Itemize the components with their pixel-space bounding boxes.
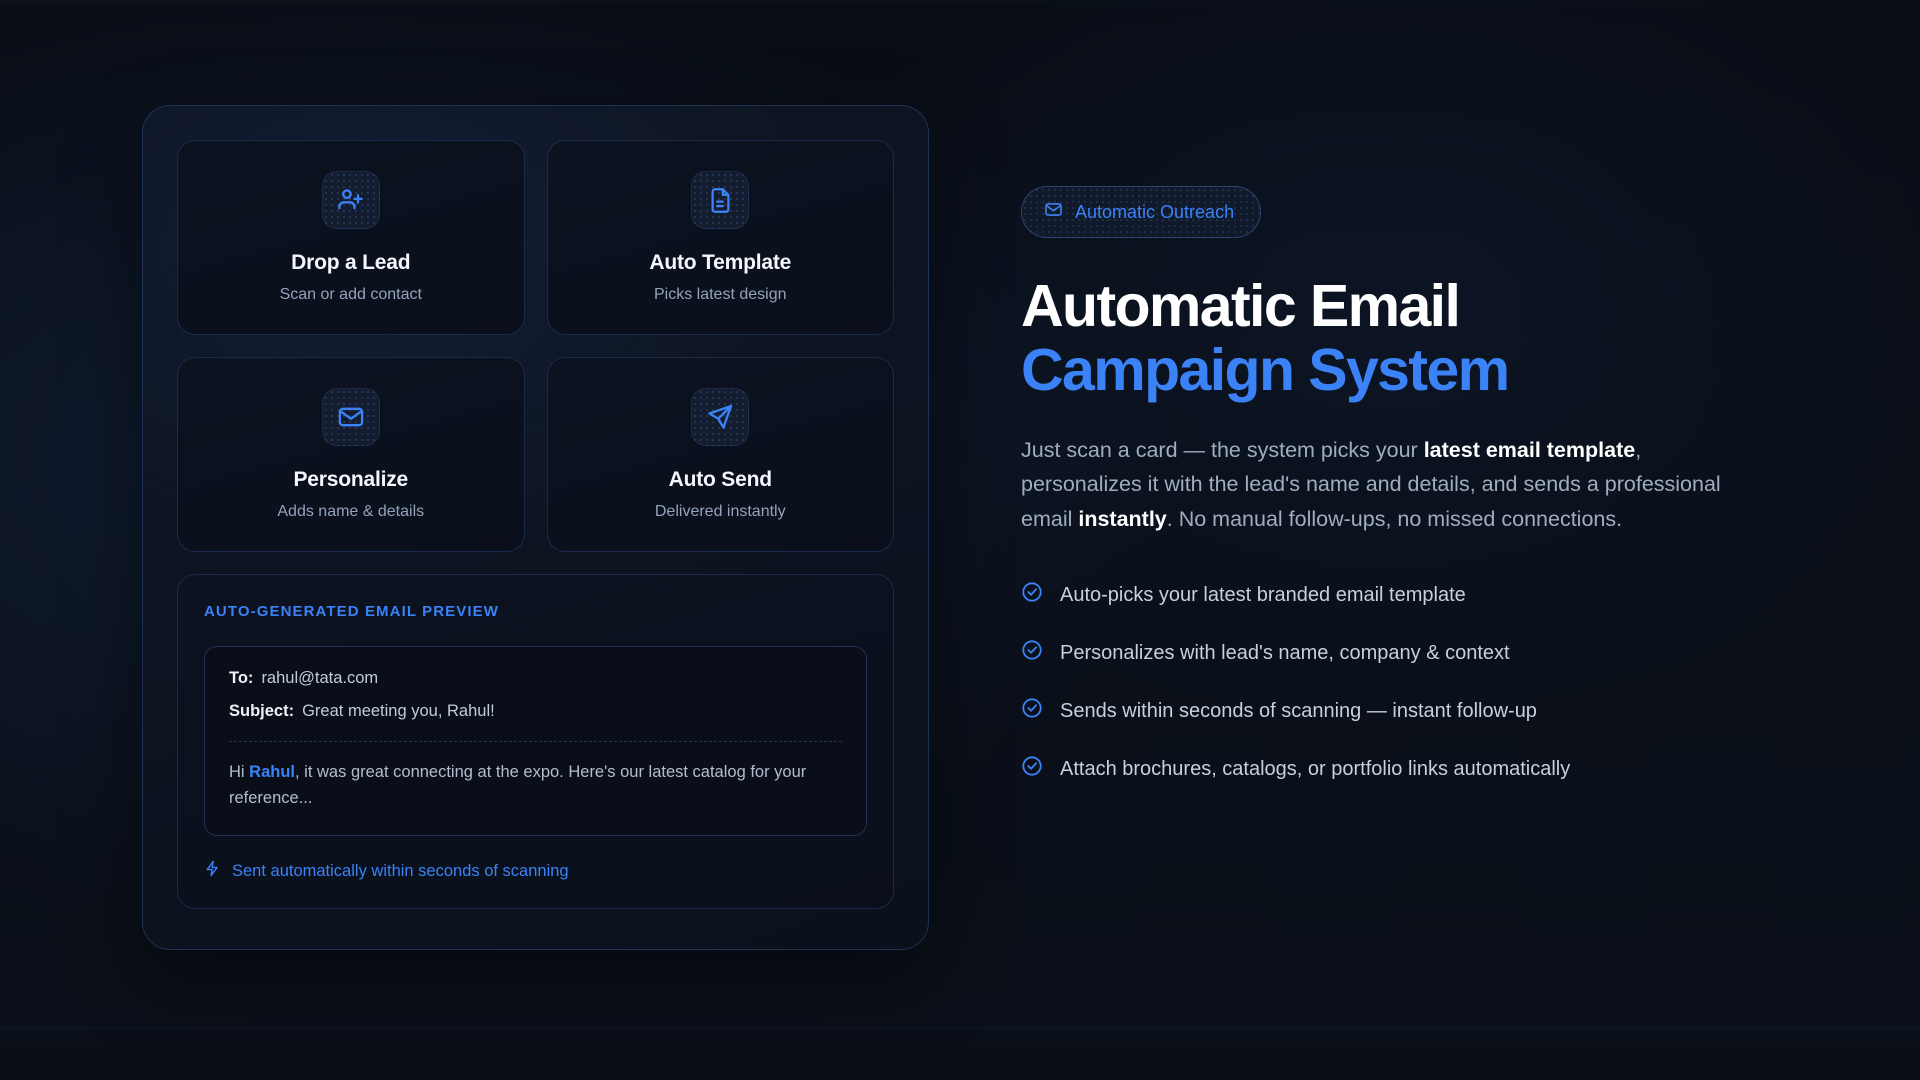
bullet-label: Sends within seconds of scanning — insta… — [1060, 700, 1537, 723]
mail-icon — [1044, 200, 1063, 224]
lede-strong-1: latest email template — [1424, 438, 1636, 462]
feature-subtitle: Scan or add contact — [280, 286, 422, 304]
bullet-label: Auto-picks your latest branded email tem… — [1060, 584, 1466, 607]
email-to-value: rahul@tata.com — [261, 669, 378, 688]
user-plus-icon — [322, 171, 380, 229]
bottom-section-divider — [0, 1028, 1920, 1080]
badge-label: Automatic Outreach — [1075, 202, 1234, 223]
check-circle-icon — [1021, 639, 1043, 667]
email-subject-value: Great meeting you, Rahul! — [302, 702, 495, 721]
feature-subtitle: Picks latest design — [654, 286, 787, 304]
headline-line-2: Campaign System — [1021, 338, 1781, 402]
lede-part-3: . No manual follow-ups, no missed connec… — [1167, 507, 1622, 531]
email-message-card: To: rahul@tata.com Subject: Great meetin… — [204, 646, 867, 836]
bullet-label: Personalizes with lead's name, company &… — [1060, 642, 1510, 665]
email-preview-label: AUTO-GENERATED EMAIL PREVIEW — [204, 603, 867, 620]
feature-card-personalize[interactable]: Personalize Adds name & details — [177, 357, 525, 552]
feature-card-grid: Drop a Lead Scan or add contact Auto Tem… — [177, 140, 894, 552]
feature-card-auto-template[interactable]: Auto Template Picks latest design — [547, 140, 895, 335]
feature-title: Auto Template — [649, 251, 791, 275]
email-to-label: To: — [229, 669, 253, 688]
list-item: Personalizes with lead's name, company &… — [1021, 639, 1781, 667]
list-item: Auto-picks your latest branded email tem… — [1021, 581, 1781, 609]
check-circle-icon — [1021, 581, 1043, 609]
page-title: Automatic Email Campaign System — [1021, 274, 1781, 403]
email-body-text: Hi Rahul, it was great connecting at the… — [229, 760, 842, 811]
top-edge-divider — [0, 0, 1920, 3]
document-icon — [691, 171, 749, 229]
check-circle-icon — [1021, 755, 1043, 783]
email-subject-row: Subject: Great meeting you, Rahul! — [229, 702, 842, 721]
email-divider — [229, 741, 842, 742]
email-body-greeting: Hi — [229, 763, 249, 781]
lede-part-1: Just scan a card — the system picks your — [1021, 438, 1424, 462]
check-circle-icon — [1021, 697, 1043, 725]
bullet-label: Attach brochures, catalogs, or portfolio… — [1060, 758, 1570, 781]
feature-bullet-list: Auto-picks your latest branded email tem… — [1021, 581, 1781, 783]
email-subject-label: Subject: — [229, 702, 294, 721]
headline-line-1: Automatic Email — [1021, 273, 1459, 339]
lightning-bolt-icon — [204, 860, 221, 882]
workflow-visual-panel: Drop a Lead Scan or add contact Auto Tem… — [142, 105, 929, 950]
feature-card-drop-a-lead[interactable]: Drop a Lead Scan or add contact — [177, 140, 525, 335]
list-item: Sends within seconds of scanning — insta… — [1021, 697, 1781, 725]
feature-title: Auto Send — [669, 468, 772, 492]
feature-title: Drop a Lead — [291, 251, 410, 275]
list-item: Attach brochures, catalogs, or portfolio… — [1021, 755, 1781, 783]
mail-icon — [322, 388, 380, 446]
email-to-row: To: rahul@tata.com — [229, 669, 842, 688]
email-body-lead-name: Rahul — [249, 763, 295, 781]
email-preview-footer-text: Sent automatically within seconds of sca… — [232, 862, 569, 881]
feature-card-auto-send[interactable]: Auto Send Delivered instantly — [547, 357, 895, 552]
hero-description: Just scan a card — the system picks your… — [1021, 433, 1751, 537]
feature-title: Personalize — [293, 468, 408, 492]
feature-subtitle: Adds name & details — [277, 503, 424, 521]
feature-subtitle: Delivered instantly — [655, 503, 786, 521]
hero-content: Automatic Outreach Automatic Email Campa… — [1021, 186, 1781, 783]
email-preview-block: AUTO-GENERATED EMAIL PREVIEW To: rahul@t… — [177, 574, 894, 909]
page-root: Drop a Lead Scan or add contact Auto Tem… — [0, 0, 1920, 1080]
lede-strong-2: instantly — [1078, 507, 1166, 531]
email-preview-footer: Sent automatically within seconds of sca… — [204, 860, 867, 882]
send-icon — [691, 388, 749, 446]
automatic-outreach-badge[interactable]: Automatic Outreach — [1021, 186, 1261, 238]
email-body-rest: , it was great connecting at the expo. H… — [229, 763, 806, 807]
